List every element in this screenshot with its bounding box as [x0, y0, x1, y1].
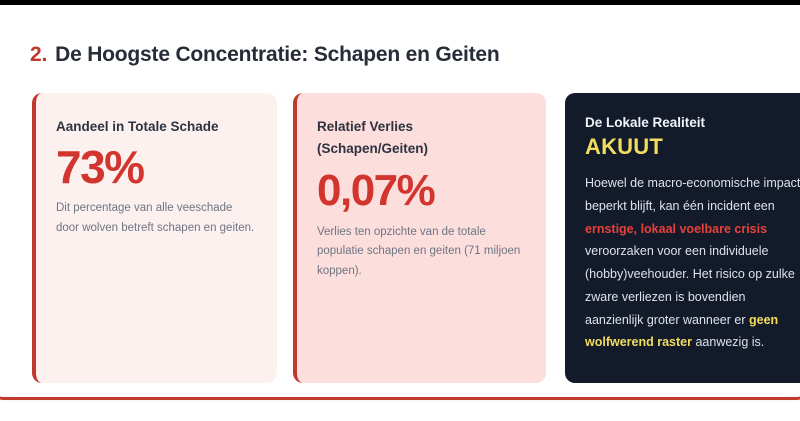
stat-card-relatief-verlies-label-line2: (Schapen/Geiten) — [317, 139, 526, 159]
callout-body-part1: Hoewel de macro-economische impact beper… — [585, 176, 800, 213]
section-title-text: De Hoogste Concentratie: Schapen en Geit… — [55, 43, 499, 66]
stat-card-aandeel: Aandeel in Totale Schade 73% Dit percent… — [32, 93, 277, 383]
slide-page: 2.De Hoogste Concentratie: Schapen en Ge… — [0, 5, 800, 421]
callout-body-highlight-red: ernstige, lokaal voelbare crisis — [585, 222, 767, 236]
callout-card-label: De Lokale Realiteit — [585, 115, 800, 130]
callout-card-body: Hoewel de macro-economische impact beper… — [585, 172, 800, 354]
stat-cards-row: Aandeel in Totale Schade 73% Dit percent… — [32, 93, 800, 385]
stat-card-relatief-verlies: Relatief Verlies (Schapen/Geiten) 0,07% … — [293, 93, 546, 383]
stat-card-aandeel-value: 73% — [56, 141, 257, 194]
section-number: 2. — [30, 43, 47, 66]
callout-card-lokale-realiteit: De Lokale Realiteit AKUUT Hoewel de macr… — [565, 93, 800, 383]
stat-card-aandeel-description: Dit percentage van alle veeschade door w… — [56, 199, 257, 239]
stat-card-relatief-verlies-description: Verlies ten opzichte van de totale popul… — [317, 223, 526, 282]
callout-card-status: AKUUT — [585, 134, 800, 160]
section-heading: 2.De Hoogste Concentratie: Schapen en Ge… — [30, 43, 499, 67]
stat-card-relatief-verlies-label-line1: Relatief Verlies — [317, 117, 526, 137]
stat-card-relatief-verlies-value: 0,07% — [317, 166, 526, 217]
stat-card-aandeel-label: Aandeel in Totale Schade — [56, 117, 257, 137]
callout-body-part3: aanwezig is. — [692, 335, 764, 349]
